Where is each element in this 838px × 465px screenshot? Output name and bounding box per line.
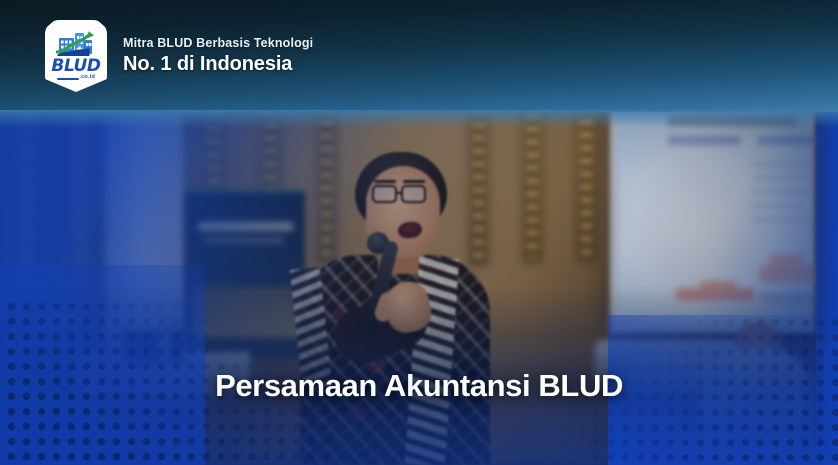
logo-domain-text: .co.id <box>79 74 95 80</box>
header-text-group: Mitra BLUD Berbasis Teknologi No. 1 di I… <box>123 36 313 76</box>
page-title: Persamaan Akuntansi BLUD <box>0 368 838 404</box>
header-bar: BLUD .co.id Mitra BLUD Berbasis Teknolog… <box>0 0 838 112</box>
banner-stage: BLUD .co.id Mitra BLUD Berbasis Teknolog… <box>0 0 838 465</box>
logo-wordmark: BLUD <box>45 58 107 75</box>
blud-logo[interactable]: BLUD .co.id <box>45 20 107 92</box>
header-headline: No. 1 di Indonesia <box>123 52 313 76</box>
header-tagline: Mitra BLUD Berbasis Teknologi <box>123 36 313 50</box>
building-growth-icon <box>56 27 96 57</box>
